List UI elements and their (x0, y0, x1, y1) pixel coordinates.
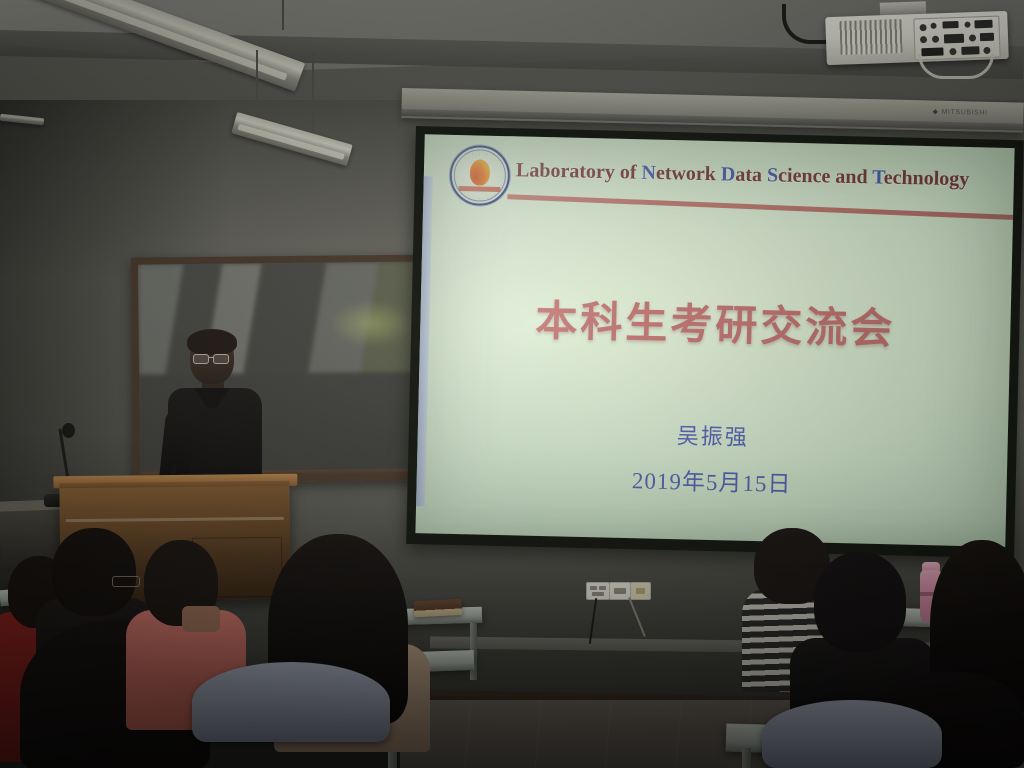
screen-brand-text: MITSUBISHI (941, 109, 987, 117)
slide-main-title: 本科生考研交流会 (420, 284, 1011, 359)
slide-header-part-1: N (641, 162, 656, 184)
light-hanger-wire-1 (282, 0, 284, 30)
slide-header-part-3: D (721, 163, 736, 185)
light-hanger-wire-3 (312, 54, 314, 144)
slide-header-title: Laboratory of Network Data Science and T… (516, 159, 1002, 192)
presenter-glasses-icon (193, 354, 229, 362)
wall-outlet-left (586, 582, 610, 600)
student-skin-neck (182, 606, 220, 632)
chair-back-left (192, 662, 390, 742)
mitsubishi-logo-icon: ◆ (932, 108, 938, 116)
slide-header-part-2: etwork (656, 162, 721, 185)
slide-header-part-8: echnology (884, 167, 970, 191)
light-hanger-wire-2 (256, 50, 258, 128)
chair-back-right (762, 700, 942, 768)
wall-outlet-right (630, 582, 651, 600)
screen-brand-label: ◆MITSUBISHI (932, 108, 987, 117)
slide-header-part-7: T (872, 166, 884, 188)
seal-top-text: · · · · · (452, 151, 508, 158)
slide-header-part-5: S (767, 164, 779, 186)
slide-header-part-6: cience and (778, 164, 873, 188)
projection-screen: · · · · · · · · · · Laboratory of Networ… (406, 126, 1024, 558)
whiteboard-reflection-highlight (328, 300, 414, 348)
slide-presenter-name: 吴振强 (418, 412, 1009, 458)
seal-flame-icon (470, 159, 491, 185)
microphone-head-icon (62, 423, 75, 438)
desk-leg (742, 748, 751, 768)
projector-vent-grille (839, 19, 902, 55)
slide-date: 2019年5月15日 (416, 456, 1007, 504)
presenter-hair (187, 329, 237, 355)
student-head (52, 528, 136, 616)
slide-header-rule (507, 194, 1014, 220)
slide-header-part-4: ata (735, 164, 767, 187)
seal-banner (458, 186, 501, 192)
university-seal-logo: · · · · · · · · · · (449, 145, 510, 206)
slide-header-part-0: Laboratory of (516, 159, 642, 184)
seal-bottom-text: · · · · · (451, 195, 507, 201)
student-head (814, 552, 906, 652)
ceiling-projector (826, 8, 1024, 70)
lecture-hall-photo: ◆MITSUBISHI · · · · · · · · · · Laborato… (0, 0, 1024, 768)
slide-surface: · · · · · · · · · · Laboratory of Networ… (415, 134, 1014, 547)
